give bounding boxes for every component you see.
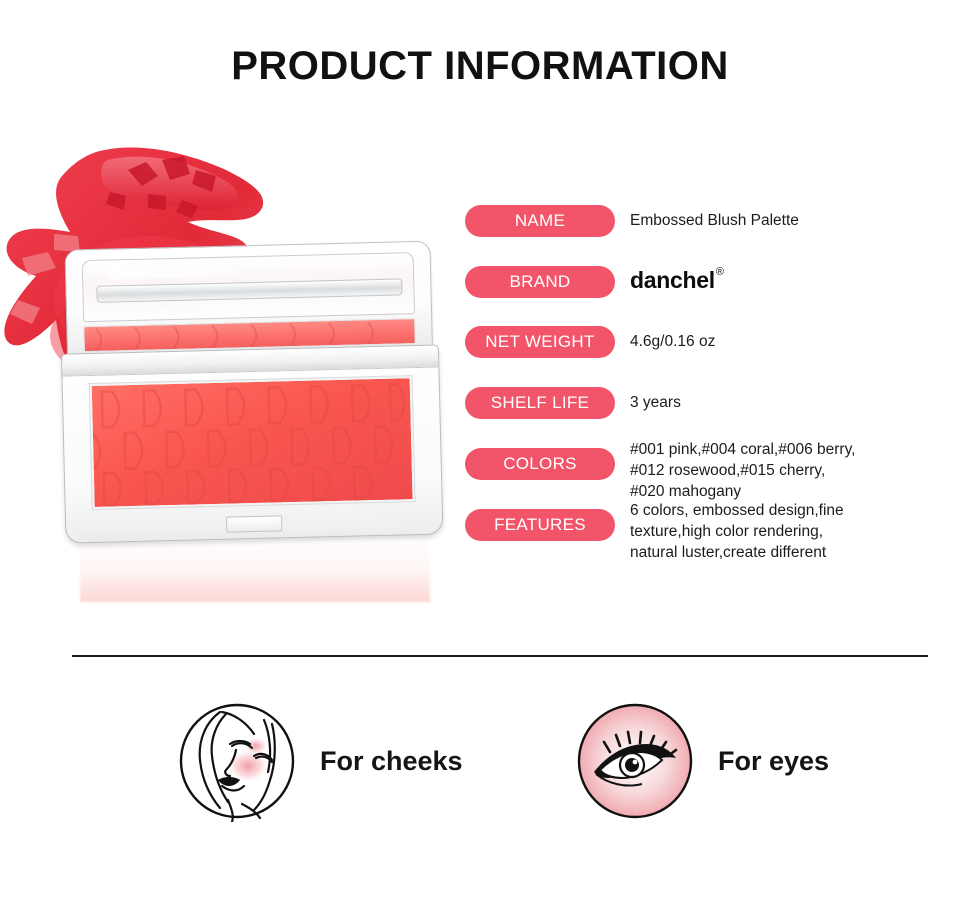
usage-label-eyes: For eyes [718, 746, 829, 777]
page-title: PRODUCT INFORMATION [0, 44, 960, 89]
spec-label-shelf-life: SHELF LIFE [465, 387, 615, 419]
spec-value-colors: #001 pink,#004 coral,#006 berry, #012 ro… [630, 439, 855, 502]
eye-lashes-icon [574, 700, 696, 822]
spec-label-colors: COLORS [465, 448, 615, 480]
compact-base [61, 344, 444, 543]
spec-label-brand: BRAND [465, 266, 615, 298]
lid-glare [109, 261, 241, 280]
section-divider [72, 655, 928, 657]
spec-row-features: FEATURES 6 colors, embossed design,fine … [465, 509, 935, 572]
brand-logo: danchel® [630, 266, 723, 294]
spec-row-brand: BRAND danchel® [465, 266, 935, 298]
face-blush-icon [176, 700, 298, 822]
usage-row: For cheeks [0, 700, 960, 840]
spec-label-net-weight: NET WEIGHT [465, 326, 615, 358]
registered-trademark-icon: ® [716, 266, 724, 278]
lid-transparent-window [82, 252, 415, 322]
spec-label-features: FEATURES [465, 509, 615, 541]
spec-row-shelf-life: SHELF LIFE 3 years [465, 387, 935, 419]
compact-reflection [80, 530, 430, 602]
spec-value-name: Embossed Blush Palette [630, 205, 799, 231]
compact-lid [64, 241, 433, 362]
spec-row-net-weight: NET WEIGHT 4.6g/0.16 oz [465, 326, 935, 358]
usage-label-cheeks: For cheeks [320, 746, 463, 777]
spec-value-shelf-life: 3 years [630, 387, 681, 413]
brand-logo-text: danchel [630, 267, 715, 293]
product-figure [0, 130, 460, 610]
product-information-page: PRODUCT INFORMATION [0, 0, 960, 907]
spec-value-features: 6 colors, embossed design,fine texture,h… [630, 500, 844, 563]
spec-label-name: NAME [465, 205, 615, 237]
blush-compact [58, 240, 450, 549]
spec-value-net-weight: 4.6g/0.16 oz [630, 326, 715, 352]
usage-item-cheeks: For cheeks [176, 700, 463, 822]
spec-row-name: NAME Embossed Blush Palette [465, 205, 935, 237]
blush-pan [90, 376, 415, 509]
usage-item-eyes: For eyes [574, 700, 829, 822]
